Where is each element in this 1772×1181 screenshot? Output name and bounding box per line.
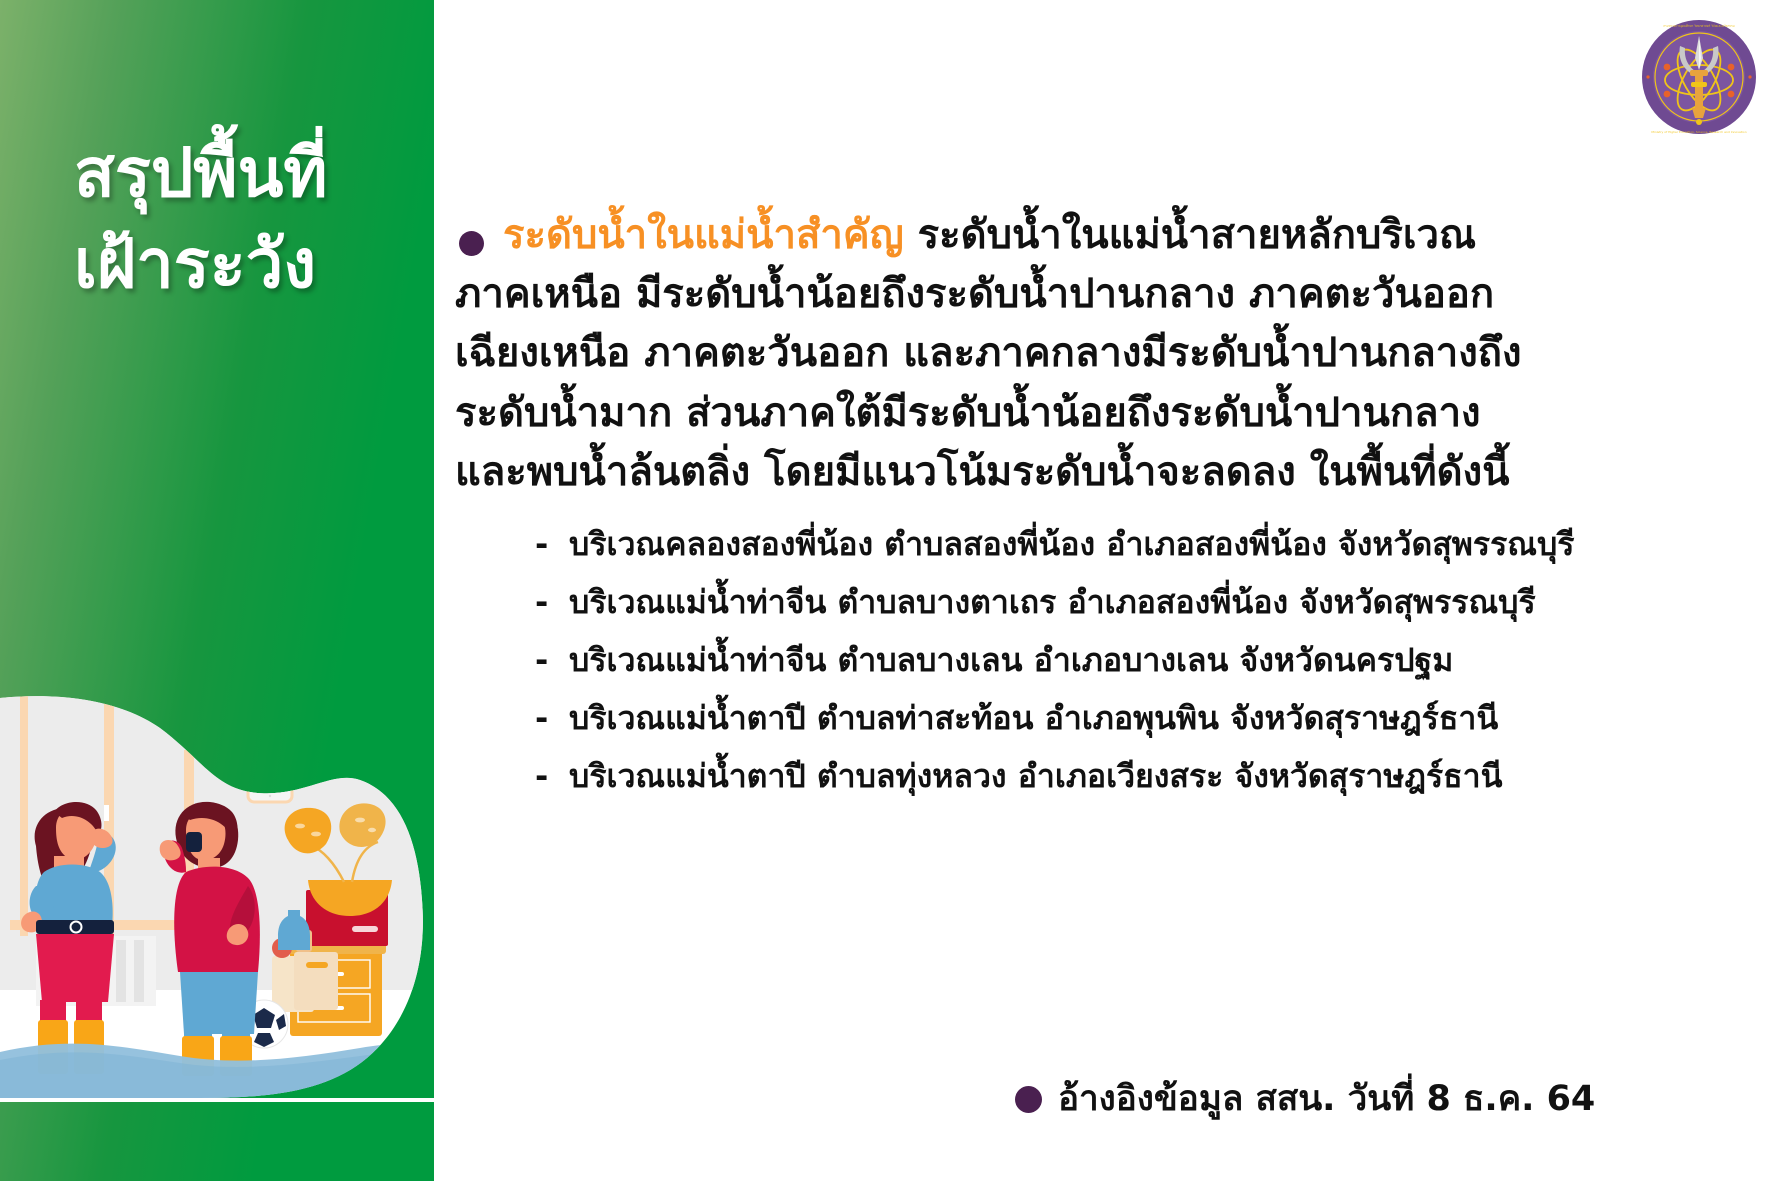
list-marker: - <box>535 702 569 734</box>
panel-divider <box>0 1098 434 1102</box>
main-paragraph-block: ระดับน้ำในแม่น้ำสำคัญ ระดับน้ำในแม่น้ำสา… <box>455 206 1525 502</box>
paragraph-bullet-icon <box>459 231 484 256</box>
list-marker: - <box>535 760 569 792</box>
list-item-label: บริเวณแม่น้ำตาปี ตำบลทุ่งหลวง อำเภอเวียง… <box>569 760 1725 792</box>
highlight-label: ระดับน้ำในแม่น้ำสำคัญ <box>503 212 904 258</box>
slide-root: สรุปพื้นที่ เฝ้าระวัง <box>0 0 1772 1181</box>
list-item-label: บริเวณแม่น้ำท่าจีน ตำบลบางตาเถร อำเภอสอง… <box>569 586 1725 618</box>
list-item: - บริเวณแม่น้ำตาปี ตำบลทุ่งหลวง อำเภอเวี… <box>535 760 1725 792</box>
watch-area-list: - บริเวณคลองสองพี่น้อง ตำบลสองพี่น้อง อำ… <box>535 528 1725 818</box>
source-reference-label: อ้างอิงข้อมูล สสน. วันที่ 8 ธ.ค. 64 <box>1058 1082 1595 1117</box>
paragraph-line-5: โดยมีแนวโน้มระดับน้ำจะลดลง ในพื้นที่ดังน… <box>764 449 1509 495</box>
main-content: ระดับน้ำในแม่น้ำสำคัญ ระดับน้ำในแม่น้ำสา… <box>455 0 1772 1181</box>
list-item-label: บริเวณแม่น้ำท่าจีน ตำบลบางเลน อำเภอบางเล… <box>569 644 1725 676</box>
list-marker: - <box>535 644 569 676</box>
list-item: - บริเวณแม่น้ำตาปี ตำบลท่าสะท้อน อำเภอพุ… <box>535 702 1725 734</box>
list-item: - บริเวณแม่น้ำท่าจีน ตำบลบางเลน อำเภอบาง… <box>535 644 1725 676</box>
list-marker: - <box>535 528 569 560</box>
list-item: - บริเวณคลองสองพี่น้อง ตำบลสองพี่น้อง อำ… <box>535 528 1725 560</box>
list-item: - บริเวณแม่น้ำท่าจีน ตำบลบางตาเถร อำเภอส… <box>535 586 1725 618</box>
left-green-panel: สรุปพื้นที่ เฝ้าระวัง <box>0 0 434 1181</box>
main-paragraph: ระดับน้ำในแม่น้ำสำคัญ ระดับน้ำในแม่น้ำสา… <box>455 206 1525 502</box>
list-item-label: บริเวณคลองสองพี่น้อง ตำบลสองพี่น้อง อำเภ… <box>569 528 1725 560</box>
page-title: สรุปพื้นที่ เฝ้าระวัง <box>74 128 424 310</box>
illustration-flooded-room <box>0 600 434 1100</box>
source-footer: อ้างอิงข้อมูล สสน. วันที่ 8 ธ.ค. 64 <box>1015 1082 1595 1117</box>
list-item-label: บริเวณแม่น้ำตาปี ตำบลท่าสะท้อน อำเภอพุนพ… <box>569 702 1725 734</box>
footer-bullet-icon <box>1015 1086 1042 1113</box>
list-marker: - <box>535 586 569 618</box>
